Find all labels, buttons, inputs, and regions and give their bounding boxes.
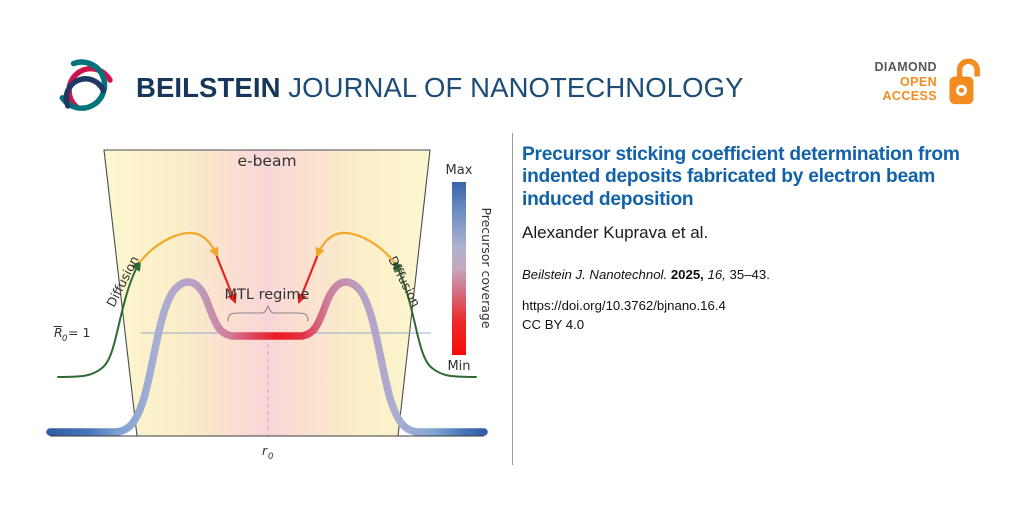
colorbar-max-label: Max [446, 163, 473, 178]
citation-volume: 16, [708, 267, 726, 282]
journal-wordmark: BEILSTEIN JOURNAL OF NANOTECHNOLOGY [136, 74, 744, 102]
wordmark-subtitle: JOURNAL OF NANOTECHNOLOGY [281, 72, 744, 103]
oa-label-open: OPEN [874, 75, 937, 90]
y-axis-label: R 0 = 1 [54, 325, 91, 344]
citation-year: 2025, [671, 267, 704, 282]
article-metadata-panel: Precursor sticking coefficient determina… [522, 144, 962, 334]
article-title[interactable]: Precursor sticking coefficient determina… [522, 144, 962, 211]
article-authors: Alexander Kuprava et al. [522, 223, 962, 243]
column-divider [512, 133, 513, 465]
e-beam-label: e-beam [237, 152, 296, 170]
article-doi-block: https://doi.org/10.3762/bjnano.16.4 CC B… [522, 297, 962, 334]
oa-label-access: ACCESS [874, 89, 937, 104]
article-doi-link[interactable]: https://doi.org/10.3762/bjnano.16.4 [522, 297, 962, 316]
open-lock-icon [946, 58, 988, 106]
article-license: CC BY 4.0 [522, 316, 962, 335]
article-citation: Beilstein J. Nanotechnol. 2025, 16, 35–4… [522, 266, 962, 283]
citation-pages: 35–43. [730, 267, 770, 282]
beilstein-triple-arc-logo-icon [52, 56, 116, 120]
graphical-abstract-svg: e-beam R 0 = 1 Diffusion Diffusion MTL r… [36, 136, 498, 466]
diamond-open-access-badge[interactable]: DIAMOND OPEN ACCESS [874, 58, 988, 106]
x-axis-label: r 0 [262, 443, 273, 462]
colorbar-gradient [452, 182, 466, 355]
x-axis-label-subscript: 0 [268, 452, 273, 462]
graphical-abstract-figure: e-beam R 0 = 1 Diffusion Diffusion MTL r… [36, 136, 498, 466]
colorbar: Max Min Precursor coverage [446, 163, 494, 374]
y-axis-label-equals: = 1 [68, 325, 90, 340]
colorbar-min-label: Min [447, 359, 470, 374]
y-axis-label-subscript: 0 [62, 334, 67, 344]
wordmark-beilstein: BEILSTEIN [136, 72, 281, 103]
open-access-labels: DIAMOND OPEN ACCESS [874, 60, 937, 104]
citation-journal: Beilstein J. Nanotechnol. [522, 267, 667, 282]
colorbar-title: Precursor coverage [479, 207, 494, 328]
journal-brand[interactable]: BEILSTEIN JOURNAL OF NANOTECHNOLOGY [52, 56, 744, 120]
mtl-regime-label: MTL regime [225, 287, 310, 303]
masthead: BEILSTEIN JOURNAL OF NANOTECHNOLOGY DIAM… [0, 0, 1024, 130]
oa-label-diamond: DIAMOND [874, 60, 937, 75]
